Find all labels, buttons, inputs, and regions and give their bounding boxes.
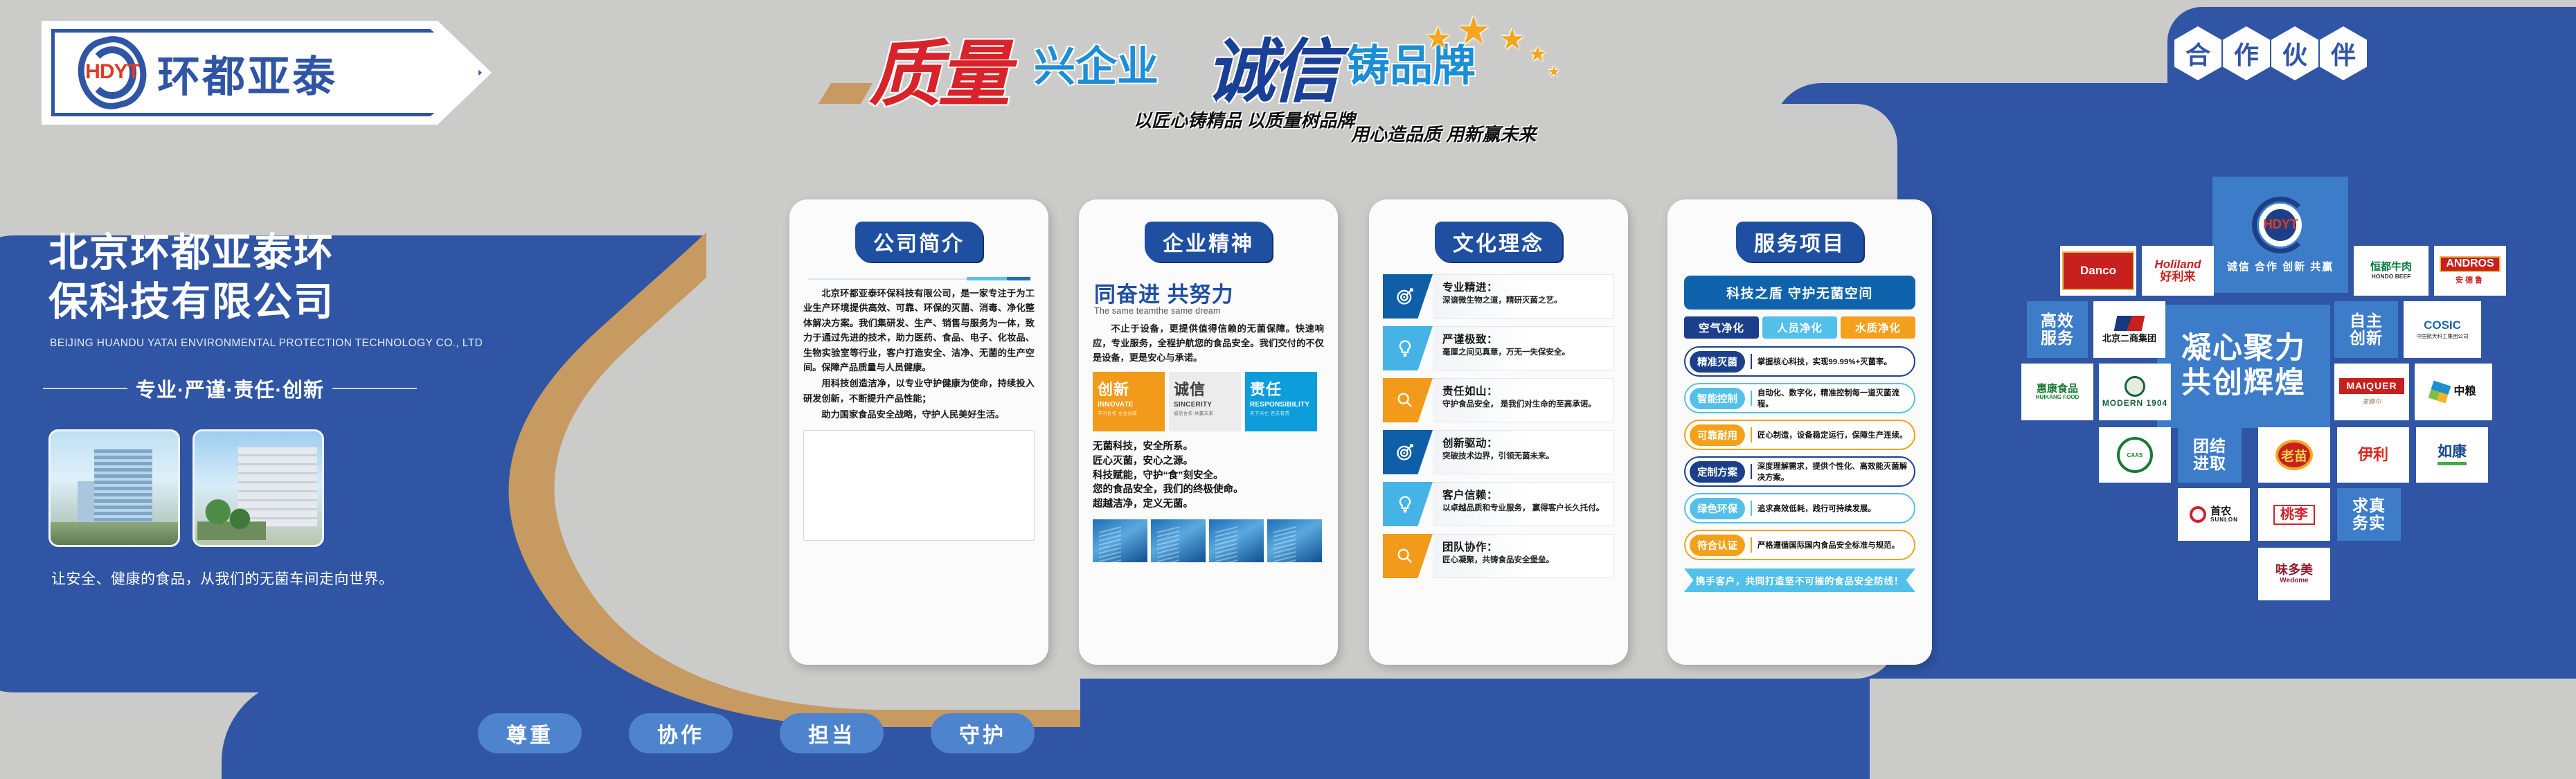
partner-keyword-tile-pragmatism: 求真 务实 xyxy=(2337,488,2401,541)
partner-logo-hondo-beef[interactable]: 恒都牛肉 HONDO BEEF xyxy=(2354,246,2429,296)
partners-title-char: 合 xyxy=(2174,26,2221,80)
hdyt-mark-text: HDYT xyxy=(75,60,149,84)
partner-logo-yili[interactable]: 伊利 xyxy=(2337,427,2409,483)
culture-item: 严谨极致： 毫厘之间见真章，万无一失保安全。 xyxy=(1383,326,1614,370)
card-title: 企业精神 xyxy=(1145,222,1272,262)
partner-logo-text: Danco xyxy=(2080,265,2116,277)
service-tag: 可靠耐用 xyxy=(1690,424,1745,446)
rule-thin xyxy=(807,278,967,280)
culture-item-list: 专业精进： 深谙微生物之道，精研灭菌之艺。 严谨极致： 毫厘之间见真章，万无一失… xyxy=(1383,274,1614,578)
service-tag: 绿色环保 xyxy=(1690,498,1745,519)
partner-logo-danco[interactable]: Danco xyxy=(2060,246,2136,296)
partner-logo-text: MODERN 1904 xyxy=(2102,399,2167,408)
value-cn: 创新 xyxy=(1098,377,1160,400)
partner-logo-laomiao[interactable]: 老苗 xyxy=(2258,427,2330,483)
star-icon: ★ xyxy=(1499,25,1526,54)
partner-logo-text-cn: 桃李 xyxy=(2273,505,2315,525)
partner-logo-text-cn: 好利来 xyxy=(2161,271,2196,283)
partner-logo-text-cn: 惠康食品 xyxy=(2037,384,2078,395)
slogan-quality: 质量 xyxy=(869,15,1008,120)
core-tagline: 专业·严谨·责任·创新 xyxy=(43,374,417,403)
value-blocks: 创新 INNOVATE 学习合作 立业创新 诚信 SINCERITY 诚信合作 … xyxy=(1093,372,1324,431)
partner-logo-text-cn: 伊利 xyxy=(2358,447,2388,463)
service-separator xyxy=(1751,391,1752,406)
profile-paragraph: 北京环都亚泰环保科技有限公司，是一家专注于为工业生产环境提供高效、可靠、环保的灭… xyxy=(803,286,1035,375)
bottom-pill-respect[interactable]: 尊重 xyxy=(478,713,582,753)
service-category-pills: 空气净化 人员净化 水质净化 xyxy=(1684,316,1915,339)
company-name-line2: 保科技有限公司 xyxy=(48,278,436,327)
partner-keyword-tile-efficiency: 高效 服务 xyxy=(2027,301,2088,358)
rule-segment-light xyxy=(967,277,1007,280)
partner-logo-taoli[interactable]: 桃李 xyxy=(2258,488,2330,541)
partner-logo-beijing-ershang[interactable]: 北京二商集团 xyxy=(2093,301,2165,358)
culture-detail: 匠心凝聚，共铸食品安全堡垒。 xyxy=(1442,555,1608,566)
culture-detail: 深谙微生物之道，精研灭菌之艺。 xyxy=(1442,296,1608,306)
star-icon: ★ xyxy=(1528,44,1547,65)
value-block-innovate: 创新 INNOVATE 学习合作 立业创新 xyxy=(1093,372,1165,431)
service-tag: 定制方案 xyxy=(1690,461,1745,483)
culture-item: 团队协作： 匠心凝聚，共铸食品安全堡垒。 xyxy=(1383,534,1614,578)
partner-logo-text: MAIQUER xyxy=(2339,378,2404,394)
spirit-slogan-line: 无菌科技，安全所系。 xyxy=(1093,440,1324,454)
card-corporate-spirit: 企业精神 同奋进 共努力 The same teamthe same dream… xyxy=(1079,199,1338,665)
card-title: 服务项目 xyxy=(1736,222,1863,262)
service-desc: 匠心制造，设备稳定运行，保障生产连续。 xyxy=(1757,429,1907,440)
company-name-line1: 北京环都亚泰环 xyxy=(48,229,436,278)
service-banner: 科技之盾 守护无菌空间 xyxy=(1684,276,1915,310)
service-separator xyxy=(1751,427,1752,442)
target-icon xyxy=(1383,430,1433,474)
partner-logo-text: SUNLON xyxy=(2210,517,2238,523)
culture-heading: 专业精进： xyxy=(1442,279,1608,294)
spirit-slogan-lines: 无菌科技，安全所系。 匠心灭菌，安心之源。 科技赋能，守护“食”刻安全。 您的食… xyxy=(1093,440,1324,511)
rule-segment-dark xyxy=(1007,277,1030,280)
partner-logo-mark xyxy=(2125,376,2145,397)
value-sub: 诚信合作 共赢未来 xyxy=(1174,409,1236,416)
culture-item: 客户信赖： 以卓越品质和专业服务， 赢得客户长久托付。 xyxy=(1383,482,1614,526)
culture-item: 专业精进： 深谙微生物之道，精研灭菌之艺。 xyxy=(1383,274,1614,319)
partner-logo-rukang[interactable]: 如康 xyxy=(2416,427,2488,483)
partner-logo-text: COSIC xyxy=(2424,319,2461,332)
service-row: 定制方案 深度理解需求，提供个性化、高效能灭菌解决方案。 xyxy=(1684,456,1915,487)
divider-rule xyxy=(807,277,1030,280)
service-pill-person[interactable]: 人员净化 xyxy=(1762,316,1837,339)
value-sub: 天下兴亡 匹夫有责 xyxy=(1250,409,1312,416)
partners-title: 合 作 伙 伴 xyxy=(2174,26,2367,80)
partner-logo-cofco[interactable]: 中粮 xyxy=(2415,364,2492,420)
partner-keyword-text: 高效 服务 xyxy=(2041,312,2074,348)
spirit-slogan-line: 超越洁净，定义无菌。 xyxy=(1093,497,1324,512)
service-tag: 精准灭菌 xyxy=(1690,351,1745,373)
partner-keyword-tile-innovation: 自主 创新 xyxy=(2334,301,2398,358)
cityscape-photo xyxy=(1151,519,1206,562)
culture-item: 创新驱动： 突破技术边界，引领无菌未来。 xyxy=(1383,430,1614,474)
partner-keyword-text: 求真 务实 xyxy=(2352,497,2386,532)
slogan-subtitle-right: 用心造品质 用新赢未来 xyxy=(1351,120,1536,146)
partner-logo-text: Holiland xyxy=(2154,258,2201,271)
partner-logo-text-cn: 如康 xyxy=(2438,445,2467,465)
value-block-sincerity: 诚信 SINCERITY 诚信合作 共赢未来 xyxy=(1169,372,1241,431)
partner-keyword-text: 团结 进取 xyxy=(2193,438,2226,473)
service-tag: 符合认证 xyxy=(1690,535,1745,556)
culture-heading: 责任如山： xyxy=(1442,383,1608,398)
factory-building-photo xyxy=(193,429,324,547)
partner-logo-caas[interactable]: CAAS xyxy=(2099,427,2171,483)
partner-logo-andros[interactable]: ANDROS 安德鲁 xyxy=(2434,246,2506,296)
value-en: INNOVATE xyxy=(1098,401,1160,409)
bottom-pill-protect[interactable]: 守护 xyxy=(931,713,1035,753)
service-pill-air[interactable]: 空气净化 xyxy=(1684,316,1759,339)
partners-title-char: 作 xyxy=(2223,26,2270,80)
value-block-responsibility: 责任 RESPONSIBILITY 天下兴亡 匹夫有责 xyxy=(1245,372,1317,431)
office-building-photo xyxy=(48,429,180,547)
company-name: 北京环都亚泰环 保科技有限公司 xyxy=(48,229,436,326)
partner-keyword-tile-unity: 团结 进取 xyxy=(2178,427,2242,483)
service-row: 可靠耐用 匠心制造，设备稳定运行，保障生产连续。 xyxy=(1684,420,1915,450)
culture-heading: 严谨极致： xyxy=(1442,331,1608,346)
partner-logo-modern[interactable]: MODERN 1904 xyxy=(2099,364,2171,420)
bottom-pill-responsibility[interactable]: 担当 xyxy=(780,713,884,753)
service-desc: 自动化、数字化，精准控制每一道灭菌流程。 xyxy=(1757,387,1914,409)
culture-wall-canvas: HDYT 环都亚泰 北京环都亚泰环 保科技有限公司 BEIJING HUANDU… xyxy=(0,0,2576,779)
partner-logo-text-cn: 麦趣尔 xyxy=(2362,397,2381,406)
spirit-slogan-line: 科技赋能，守护“食”刻安全。 xyxy=(1093,469,1324,483)
brand-name-cn: 环都亚泰 xyxy=(157,42,337,104)
partner-logo-text-cn: 恒都牛肉 xyxy=(2370,262,2412,273)
partners-title-char: 伙 xyxy=(2271,26,2318,80)
service-pill-water[interactable]: 水质净化 xyxy=(1841,316,1915,339)
profile-paragraph: 用科技创造洁净，以专业守护健康为使命，持续投入研发创新，不断提升产品性能； xyxy=(803,376,1035,406)
spirit-headline-en: The same teamthe same dream xyxy=(1094,306,1323,316)
target-icon xyxy=(1383,274,1433,319)
partner-logo-text: ANDROS xyxy=(2440,256,2500,272)
service-separator xyxy=(1751,464,1752,479)
search-icon xyxy=(1383,534,1433,578)
partner-logo-text-cn: 中粮 xyxy=(2453,386,2476,398)
bulb-icon xyxy=(1383,326,1433,370)
spirit-headline: 同奋进 共努力 The same teamthe same dream xyxy=(1094,277,1323,316)
spirit-slogan-line: 匠心灭菌，安心之源。 xyxy=(1093,454,1324,469)
partner-logo-text-cn: 首农 xyxy=(2210,506,2231,517)
search-icon xyxy=(1383,378,1433,422)
hdyt-gear-icon: HDYT xyxy=(2252,197,2309,253)
company-logo-badge: HDYT 环都亚泰 xyxy=(42,21,492,125)
service-desc: 掌握核心科技，实现99.99%+灭菌率。 xyxy=(1757,356,1892,367)
cityscape-photo xyxy=(1093,519,1147,562)
partner-logo-huikang-food[interactable]: 惠康食品 HUIKANG FOOD xyxy=(2021,364,2093,420)
card-company-profile: 公司简介 北京环都亚泰环保科技有限公司，是一家专注于为工业生产环境提供高效、可靠… xyxy=(789,199,1048,665)
profile-image-placeholder xyxy=(803,430,1035,541)
slogan-integrity: 诚信 xyxy=(1206,15,1336,116)
tagline-rule-right xyxy=(332,388,417,389)
service-row: 精准灭菌 掌握核心科技，实现99.99%+灭菌率。 xyxy=(1684,346,1915,377)
partner-logo-text-cn: 安德鲁 xyxy=(2456,274,2485,285)
partner-logo-text-cn: 味多美 xyxy=(2275,564,2313,577)
bottom-pill-collaborate[interactable]: 协作 xyxy=(629,713,733,753)
slogan-subtitle-left: 以匠心铸精品 以质量树品牌 xyxy=(1134,107,1354,132)
culture-detail: 突破技术边界，引领无菌未来。 xyxy=(1442,451,1608,462)
hdyt-mark-text: HDYT xyxy=(2252,217,2309,233)
cityscape-photo xyxy=(1267,519,1322,562)
slogan-prosper: 兴企业 xyxy=(1034,33,1159,93)
partners-title-char: 伴 xyxy=(2320,26,2367,80)
partner-logo-wedome[interactable]: 味多美 Wedome xyxy=(2258,548,2330,600)
value-en: RESPONSIBILITY xyxy=(1250,401,1312,409)
card-culture-values: 文化理念 专业精进： 深谙微生物之道，精研灭菌之艺。 严谨极致： 毫厘之间见真章… xyxy=(1369,199,1628,665)
culture-heading: 客户信赖： xyxy=(1442,487,1608,502)
left-panel-footer: 让安全、健康的食品，从我们的无菌车间走向世界。 xyxy=(51,568,394,589)
partner-logo-text: HUIKANG FOOD xyxy=(2036,394,2079,400)
partner-logo-text: CAAS xyxy=(2117,437,2153,473)
value-sub: 学习合作 立业创新 xyxy=(1098,409,1160,416)
tagline-text: 专业·严谨·责任·创新 xyxy=(136,374,324,403)
partner-logo-text: Wedome xyxy=(2280,577,2309,584)
service-row-list: 精准灭菌 掌握核心科技，实现99.99%+灭菌率。 智能控制 自动化、数字化，精… xyxy=(1684,346,1915,560)
partner-logo-holiland[interactable]: Holiland 好利来 xyxy=(2142,246,2214,296)
partner-logo-text-cn: 北京二商集团 xyxy=(2102,334,2156,343)
spirit-paragraph: 不止于设备，更提供值得信赖的无菌保障。快速响应，专业服务，全程护航您的食品安全。… xyxy=(1093,321,1324,365)
service-separator xyxy=(1751,537,1752,553)
culture-item: 责任如山： 守护食品安全， 是我们对生命的至高承诺。 xyxy=(1383,378,1614,422)
partner-logo-text-cn: 中国航天科工集团公司 xyxy=(2417,332,2469,340)
card-service-items: 服务项目 科技之盾 守护无菌空间 空气净化 人员净化 水质净化 精准灭菌 掌握核… xyxy=(1667,199,1932,665)
card-title: 文化理念 xyxy=(1435,222,1562,262)
partner-logo-maiquer[interactable]: MAIQUER 麦趣尔 xyxy=(2334,364,2409,420)
value-en: SINCERITY xyxy=(1174,401,1236,409)
bottom-value-pills: 尊重 协作 担当 守护 xyxy=(478,713,1035,753)
partner-logo-mark xyxy=(2114,316,2145,331)
value-cn: 责任 xyxy=(1250,377,1312,400)
service-row: 绿色环保 追求高效低耗，践行可持续发展。 xyxy=(1684,493,1915,523)
company-name-en: BEIJING HUANDU YATAI ENVIRONMENTAL PROTE… xyxy=(50,337,451,350)
service-desc: 深度理解需求，提供个性化、高效能灭菌解决方案。 xyxy=(1757,460,1914,483)
cityscape-photo-strip xyxy=(1093,519,1324,562)
service-desc: 严格遵循国际国内食品安全标准与规范。 xyxy=(1757,539,1899,550)
service-separator xyxy=(1751,501,1752,516)
star-icon: ★ xyxy=(1548,65,1560,79)
card-title: 公司简介 xyxy=(855,222,983,262)
partner-logo-text-cn: 老苗 xyxy=(2275,440,2313,470)
header-slogan: 质量 兴企业 诚信 铸品牌 以匠心铸精品 以质量树品牌 用心造品质 用新赢未来 … xyxy=(862,10,1527,148)
spirit-headline-cn: 同奋进 共努力 xyxy=(1094,277,1323,308)
culture-detail: 毫厘之间见真章，万无一失保安全。 xyxy=(1442,348,1608,358)
partner-logo-text: HONDO BEEF xyxy=(2372,273,2411,280)
service-row: 符合认证 严格遵循国际国内食品安全标准与规范。 xyxy=(1684,530,1915,560)
star-icon: ★ xyxy=(1456,11,1491,50)
partner-logo-cosic[interactable]: COSIC 中国航天科工集团公司 xyxy=(2404,301,2481,358)
tagline-rule-left xyxy=(43,388,127,389)
value-cn: 诚信 xyxy=(1174,377,1236,400)
culture-detail: 守护食品安全， 是我们对生命的至高承诺。 xyxy=(1442,400,1608,410)
culture-heading: 团队协作： xyxy=(1442,539,1608,554)
service-tag: 智能控制 xyxy=(1690,388,1745,409)
culture-detail: 以卓越品质和专业服务， 赢得客户长久托付。 xyxy=(1442,503,1608,514)
partner-logo-sunlon[interactable]: 首农 SUNLON xyxy=(2178,488,2250,541)
service-ribbon: 携手客户，共同打造坚不可摧的食品安全防线！ xyxy=(1684,568,1915,592)
partner-logo-mark xyxy=(2429,381,2451,404)
star-icon: ★ xyxy=(1424,24,1451,54)
star-cluster: ★ ★ ★ ★ ★ xyxy=(1424,11,1549,87)
cityscape-photo xyxy=(1209,519,1264,562)
service-separator xyxy=(1751,354,1752,369)
profile-paragraph: 助力国家食品安全战略，守护人民美好生活。 xyxy=(803,407,1035,422)
facility-photos xyxy=(48,429,324,547)
service-desc: 追求高效低耗，践行可持续发展。 xyxy=(1757,503,1876,514)
service-row: 智能控制 自动化、数字化，精准控制每一道灭菌流程。 xyxy=(1684,383,1915,413)
hdyt-gear-icon: HDYT xyxy=(78,37,146,109)
culture-heading: 创新驱动： xyxy=(1442,435,1608,450)
bulb-icon xyxy=(1383,482,1433,526)
partner-keyword-text: 自主 创新 xyxy=(2350,312,2383,348)
partner-logo-mark xyxy=(2190,506,2206,523)
partner-logo-grid: Danco Holiland 好利来 恒都牛肉 HONDO BEEF ANDRO… xyxy=(2060,246,2566,661)
spirit-slogan-line: 您的食品安全，我们的终极使命。 xyxy=(1093,483,1324,497)
